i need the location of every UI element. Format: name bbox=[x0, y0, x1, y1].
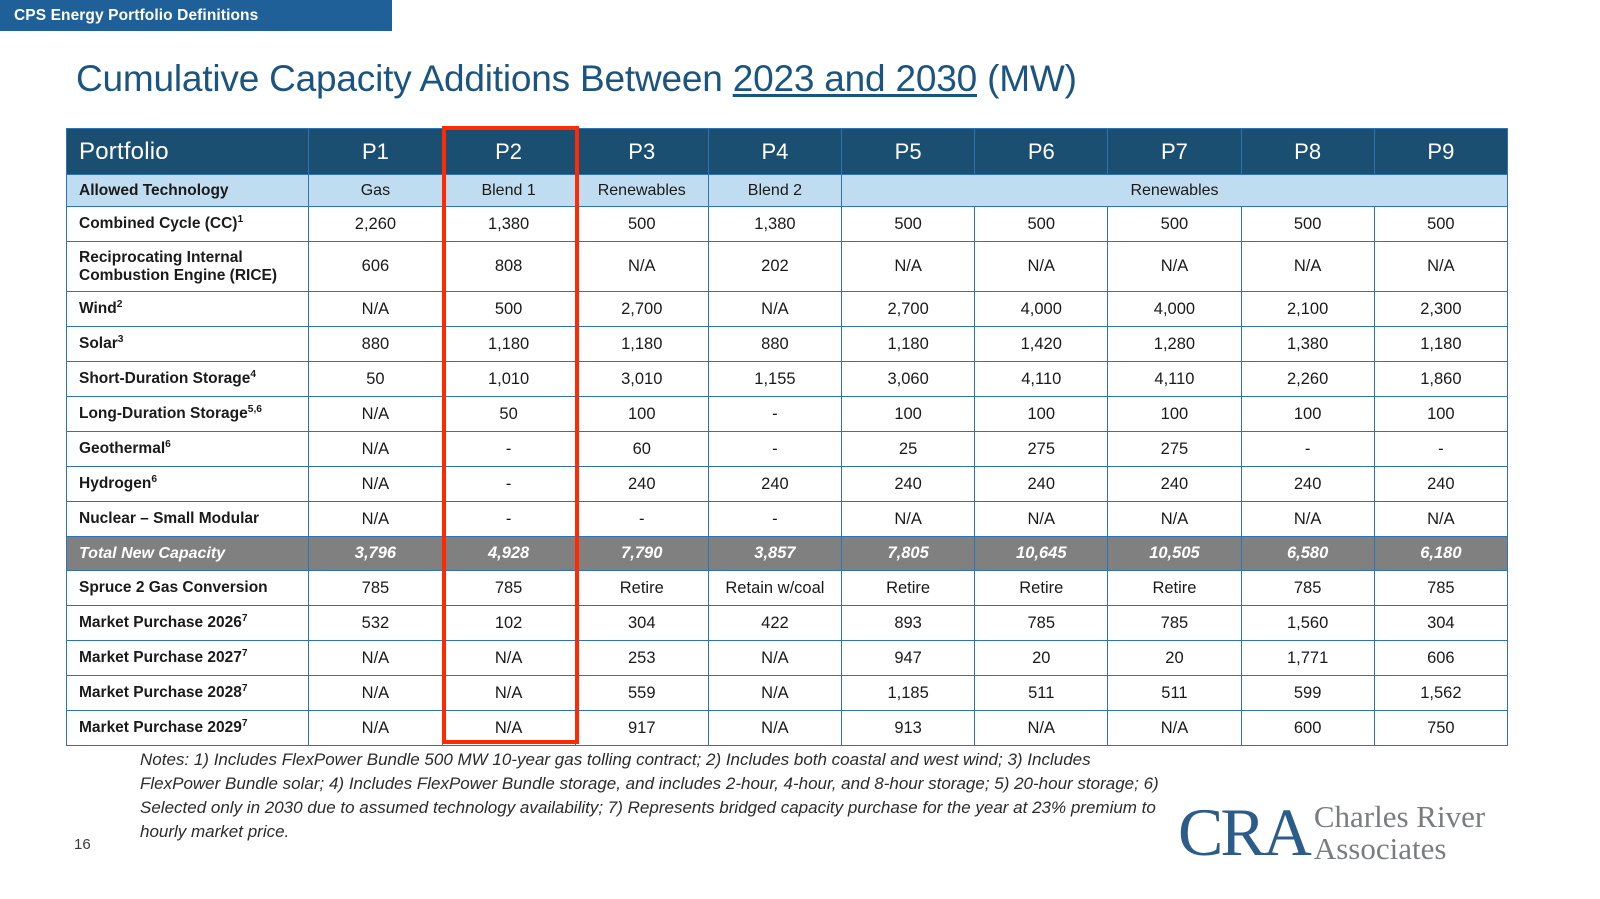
total-cell: 6,180 bbox=[1374, 537, 1507, 571]
table-cell: 785 bbox=[975, 606, 1108, 641]
table-cell: N/A bbox=[708, 641, 841, 676]
row-label: Geothermal6 bbox=[67, 432, 309, 467]
table-cell: N/A bbox=[708, 292, 841, 327]
table-cell: N/A bbox=[309, 397, 442, 432]
table-cell: - bbox=[442, 467, 575, 502]
footnote-marker: 2 bbox=[117, 299, 123, 310]
table-cell: Retain w/coal bbox=[708, 571, 841, 606]
table-cell: 2,260 bbox=[1241, 362, 1374, 397]
table-cell: N/A bbox=[1108, 711, 1241, 746]
table-cell: 25 bbox=[842, 432, 975, 467]
table-cell: - bbox=[708, 432, 841, 467]
table-cell: 4,110 bbox=[1108, 362, 1241, 397]
row-label: Combined Cycle (CC)1 bbox=[67, 207, 309, 242]
row-label: Total New Capacity bbox=[67, 537, 309, 571]
table-cell: - bbox=[708, 397, 841, 432]
slide-banner: CPS Energy Portfolio Definitions bbox=[0, 0, 392, 31]
table-cell: N/A bbox=[1108, 502, 1241, 537]
table-cell: N/A bbox=[708, 676, 841, 711]
table-row: Hydrogen6N/A-240240240240240240240 bbox=[67, 467, 1508, 502]
table-cell: 500 bbox=[1241, 207, 1374, 242]
table-cell: 1,380 bbox=[442, 207, 575, 242]
table-cell: 100 bbox=[1108, 397, 1241, 432]
allowed-technology-row: Allowed TechnologyGasBlend 1RenewablesBl… bbox=[67, 175, 1508, 207]
capacity-table-container: PortfolioP1P2P3P4P5P6P7P8P9Allowed Techn… bbox=[66, 128, 1508, 746]
column-header-p6[interactable]: P6 bbox=[975, 129, 1108, 175]
table-cell: - bbox=[1241, 432, 1374, 467]
allowed-technology-cell-merged: Renewables bbox=[842, 175, 1508, 207]
table-cell: - bbox=[442, 432, 575, 467]
table-row: Spruce 2 Gas Conversion785785RetireRetai… bbox=[67, 571, 1508, 606]
page-number: 16 bbox=[74, 836, 91, 853]
row-label: Short-Duration Storage4 bbox=[67, 362, 309, 397]
column-header-p1[interactable]: P1 bbox=[309, 129, 442, 175]
table-cell: 1,380 bbox=[708, 207, 841, 242]
table-row: Wind2N/A5002,700N/A2,7004,0004,0002,1002… bbox=[67, 292, 1508, 327]
table-cell: 500 bbox=[1108, 207, 1241, 242]
table-cell: 253 bbox=[575, 641, 708, 676]
page-title: Cumulative Capacity Additions Between 20… bbox=[76, 58, 1077, 100]
allowed-technology-cell: Blend 1 bbox=[442, 175, 575, 207]
table-cell: 100 bbox=[975, 397, 1108, 432]
row-label: Nuclear – Small Modular bbox=[67, 502, 309, 537]
table-cell: 240 bbox=[1108, 467, 1241, 502]
table-cell: 275 bbox=[1108, 432, 1241, 467]
table-cell: 20 bbox=[1108, 641, 1241, 676]
total-cell: 10,505 bbox=[1108, 537, 1241, 571]
table-cell: 20 bbox=[975, 641, 1108, 676]
table-cell: 4,000 bbox=[975, 292, 1108, 327]
table-cell: N/A bbox=[1374, 242, 1507, 292]
table-cell: 422 bbox=[708, 606, 841, 641]
table-cell: 947 bbox=[842, 641, 975, 676]
table-cell: N/A bbox=[309, 467, 442, 502]
cra-wordmark-line2: Associates bbox=[1314, 833, 1485, 865]
footnote-marker: 7 bbox=[242, 648, 248, 659]
table-cell: N/A bbox=[442, 711, 575, 746]
table-cell: 1,010 bbox=[442, 362, 575, 397]
table-cell: N/A bbox=[309, 502, 442, 537]
table-cell: 4,110 bbox=[975, 362, 1108, 397]
table-cell: N/A bbox=[309, 711, 442, 746]
row-label: Hydrogen6 bbox=[67, 467, 309, 502]
allowed-technology-cell: Gas bbox=[309, 175, 442, 207]
table-row: Long-Duration Storage5,6N/A50100-1001001… bbox=[67, 397, 1508, 432]
table-cell: 500 bbox=[842, 207, 975, 242]
table-cell: 240 bbox=[1374, 467, 1507, 502]
table-cell: 202 bbox=[708, 242, 841, 292]
table-cell: 240 bbox=[575, 467, 708, 502]
row-label: Long-Duration Storage5,6 bbox=[67, 397, 309, 432]
banner-title: CPS Energy Portfolio Definitions bbox=[0, 7, 258, 25]
cra-wordmark: Charles River Associates bbox=[1314, 801, 1485, 865]
table-cell: N/A bbox=[1108, 242, 1241, 292]
table-cell: 893 bbox=[842, 606, 975, 641]
table-cell: - bbox=[708, 502, 841, 537]
row-label: Wind2 bbox=[67, 292, 309, 327]
table-cell: 50 bbox=[442, 397, 575, 432]
column-header-p5[interactable]: P5 bbox=[842, 129, 975, 175]
total-new-capacity-row: Total New Capacity3,7964,9287,7903,8577,… bbox=[67, 537, 1508, 571]
table-cell: N/A bbox=[1241, 502, 1374, 537]
table-cell: - bbox=[575, 502, 708, 537]
table-cell: N/A bbox=[442, 641, 575, 676]
row-label: Reciprocating Internal Combustion Engine… bbox=[67, 242, 309, 292]
table-cell: 511 bbox=[975, 676, 1108, 711]
table-cell: N/A bbox=[975, 242, 1108, 292]
table-row: Short-Duration Storage4501,0103,0101,155… bbox=[67, 362, 1508, 397]
footnote-marker: 3 bbox=[118, 334, 124, 345]
table-cell: 1,771 bbox=[1241, 641, 1374, 676]
table-cell: 2,700 bbox=[575, 292, 708, 327]
row-label: Allowed Technology bbox=[67, 175, 309, 207]
column-header-p9[interactable]: P9 bbox=[1374, 129, 1507, 175]
table-cell: 100 bbox=[842, 397, 975, 432]
table-cell: 1,380 bbox=[1241, 327, 1374, 362]
table-cell: 917 bbox=[575, 711, 708, 746]
table-cell: Retire bbox=[975, 571, 1108, 606]
row-label: Market Purchase 20277 bbox=[67, 641, 309, 676]
table-cell: 500 bbox=[1374, 207, 1507, 242]
table-row: Market Purchase 202675321023044228937857… bbox=[67, 606, 1508, 641]
table-cell: - bbox=[442, 502, 575, 537]
table-cell: N/A bbox=[842, 502, 975, 537]
footnote-marker: 5,6 bbox=[248, 404, 262, 415]
table-row: Reciprocating Internal Combustion Engine… bbox=[67, 242, 1508, 292]
table-cell: 1,185 bbox=[842, 676, 975, 711]
table-cell: N/A bbox=[842, 242, 975, 292]
total-cell: 7,805 bbox=[842, 537, 975, 571]
table-cell: 1,155 bbox=[708, 362, 841, 397]
table-cell: N/A bbox=[708, 711, 841, 746]
total-cell: 7,790 bbox=[575, 537, 708, 571]
table-cell: 599 bbox=[1241, 676, 1374, 711]
column-header-p2[interactable]: P2 bbox=[442, 129, 575, 175]
column-header-p4[interactable]: P4 bbox=[708, 129, 841, 175]
cra-logo: CRA Charles River Associates bbox=[1178, 792, 1485, 872]
table-row: Solar38801,1801,1808801,1801,4201,2801,3… bbox=[67, 327, 1508, 362]
table-cell: N/A bbox=[975, 502, 1108, 537]
allowed-technology-cell: Blend 2 bbox=[708, 175, 841, 207]
table-cell: 606 bbox=[309, 242, 442, 292]
table-cell: 304 bbox=[575, 606, 708, 641]
total-cell: 3,857 bbox=[708, 537, 841, 571]
table-cell: 532 bbox=[309, 606, 442, 641]
table-cell: N/A bbox=[1374, 502, 1507, 537]
table-cell: 785 bbox=[1374, 571, 1507, 606]
title-part-before: Cumulative Capacity Additions Between bbox=[76, 58, 733, 99]
table-cell: 2,260 bbox=[309, 207, 442, 242]
table-cell: 275 bbox=[975, 432, 1108, 467]
table-cell: 50 bbox=[309, 362, 442, 397]
table-cell: 100 bbox=[1241, 397, 1374, 432]
row-label: Market Purchase 20297 bbox=[67, 711, 309, 746]
total-cell: 4,928 bbox=[442, 537, 575, 571]
table-cell: 240 bbox=[708, 467, 841, 502]
table-cell: 785 bbox=[309, 571, 442, 606]
table-cell: Retire bbox=[1108, 571, 1241, 606]
footnote-marker: 7 bbox=[242, 613, 248, 624]
cra-wordmark-line1: Charles River bbox=[1314, 801, 1485, 833]
table-cell: 880 bbox=[309, 327, 442, 362]
table-cell: 750 bbox=[1374, 711, 1507, 746]
table-row: Combined Cycle (CC)12,2601,3805001,38050… bbox=[67, 207, 1508, 242]
table-cell: 3,010 bbox=[575, 362, 708, 397]
table-row: Geothermal6N/A-60-25275275-- bbox=[67, 432, 1508, 467]
total-cell: 10,645 bbox=[975, 537, 1108, 571]
table-cell: 559 bbox=[575, 676, 708, 711]
total-cell: 3,796 bbox=[309, 537, 442, 571]
column-header-p8[interactable]: P8 bbox=[1241, 129, 1374, 175]
table-cell: 240 bbox=[1241, 467, 1374, 502]
table-cell: 4,000 bbox=[1108, 292, 1241, 327]
footnote-marker: 7 bbox=[242, 683, 248, 694]
table-cell: N/A bbox=[309, 641, 442, 676]
table-header-row: PortfolioP1P2P3P4P5P6P7P8P9 bbox=[67, 129, 1508, 175]
table-cell: 2,100 bbox=[1241, 292, 1374, 327]
table-cell: 60 bbox=[575, 432, 708, 467]
table-cell: N/A bbox=[1241, 242, 1374, 292]
table-cell: 102 bbox=[442, 606, 575, 641]
row-label: Solar3 bbox=[67, 327, 309, 362]
table-cell: 240 bbox=[975, 467, 1108, 502]
table-cell: N/A bbox=[575, 242, 708, 292]
table-cell: 1,280 bbox=[1108, 327, 1241, 362]
table-cell: 1,860 bbox=[1374, 362, 1507, 397]
capacity-additions-table: PortfolioP1P2P3P4P5P6P7P8P9Allowed Techn… bbox=[66, 128, 1508, 746]
column-header-p3[interactable]: P3 bbox=[575, 129, 708, 175]
cra-monogram: CRA bbox=[1178, 798, 1309, 866]
table-cell: Retire bbox=[842, 571, 975, 606]
table-cell: 1,420 bbox=[975, 327, 1108, 362]
total-cell: 6,580 bbox=[1241, 537, 1374, 571]
table-cell: 1,180 bbox=[1374, 327, 1507, 362]
table-row: Market Purchase 20277N/AN/A253N/A9472020… bbox=[67, 641, 1508, 676]
footnote-marker: 7 bbox=[242, 718, 248, 729]
footnotes: Notes: 1) Includes FlexPower Bundle 500 … bbox=[140, 748, 1170, 845]
table-cell: 1,180 bbox=[442, 327, 575, 362]
table-cell: 304 bbox=[1374, 606, 1507, 641]
title-part-after: (MW) bbox=[977, 58, 1077, 99]
table-cell: Retire bbox=[575, 571, 708, 606]
table-row: Nuclear – Small ModularN/A---N/AN/AN/AN/… bbox=[67, 502, 1508, 537]
table-cell: 240 bbox=[842, 467, 975, 502]
table-cell: 500 bbox=[575, 207, 708, 242]
table-cell: 880 bbox=[708, 327, 841, 362]
allowed-technology-cell: Renewables bbox=[575, 175, 708, 207]
table-cell: 500 bbox=[442, 292, 575, 327]
table-row: Market Purchase 20287N/AN/A559N/A1,18551… bbox=[67, 676, 1508, 711]
footnote-marker: 1 bbox=[237, 214, 243, 225]
table-cell: 785 bbox=[442, 571, 575, 606]
table-cell: 2,300 bbox=[1374, 292, 1507, 327]
table-row: Market Purchase 20297N/AN/A917N/A913N/AN… bbox=[67, 711, 1508, 746]
table-cell: 913 bbox=[842, 711, 975, 746]
table-cell: 785 bbox=[1241, 571, 1374, 606]
table-cell: 1,562 bbox=[1374, 676, 1507, 711]
table-cell: 606 bbox=[1374, 641, 1507, 676]
table-cell: - bbox=[1374, 432, 1507, 467]
table-cell: 100 bbox=[1374, 397, 1507, 432]
table-cell: 500 bbox=[975, 207, 1108, 242]
table-cell: 808 bbox=[442, 242, 575, 292]
row-label: Market Purchase 20267 bbox=[67, 606, 309, 641]
table-cell: 100 bbox=[575, 397, 708, 432]
row-label: Market Purchase 20287 bbox=[67, 676, 309, 711]
table-cell: 2,700 bbox=[842, 292, 975, 327]
table-cell: N/A bbox=[442, 676, 575, 711]
table-cell: 600 bbox=[1241, 711, 1374, 746]
table-cell: 785 bbox=[1108, 606, 1241, 641]
table-cell: 1,560 bbox=[1241, 606, 1374, 641]
footnote-marker: 6 bbox=[151, 474, 157, 485]
table-cell: N/A bbox=[309, 676, 442, 711]
header-portfolio-label: Portfolio bbox=[67, 129, 309, 175]
table-cell: 3,060 bbox=[842, 362, 975, 397]
table-cell: N/A bbox=[975, 711, 1108, 746]
row-label: Spruce 2 Gas Conversion bbox=[67, 571, 309, 606]
table-cell: N/A bbox=[309, 432, 442, 467]
table-cell: 511 bbox=[1108, 676, 1241, 711]
table-cell: N/A bbox=[309, 292, 442, 327]
footnote-marker: 6 bbox=[165, 439, 171, 450]
table-cell: 1,180 bbox=[842, 327, 975, 362]
footnote-marker: 4 bbox=[250, 369, 256, 380]
table-cell: 1,180 bbox=[575, 327, 708, 362]
title-part-underlined: 2023 and 2030 bbox=[733, 58, 977, 99]
column-header-p7[interactable]: P7 bbox=[1108, 129, 1241, 175]
